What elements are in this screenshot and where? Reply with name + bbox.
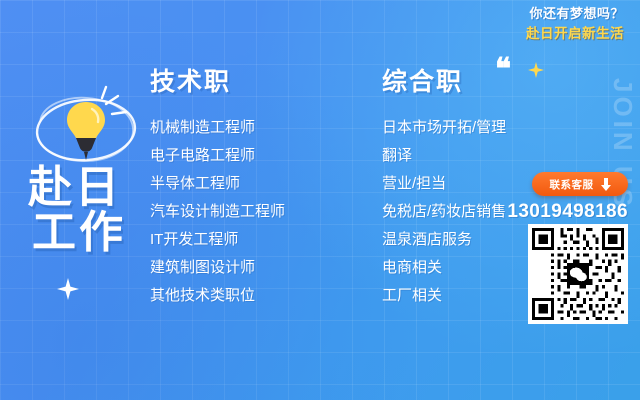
column-title: 综合职 [382, 62, 572, 98]
phone-number: 13019498186 [507, 201, 628, 223]
list-item: 半导体工程师 [150, 176, 340, 191]
wechat-qr-code[interactable] [528, 224, 628, 324]
list-item: IT开发工程师 [150, 232, 340, 247]
list-item: 汽车设计制造工程师 [150, 204, 340, 219]
list-item: 翻译 [382, 148, 572, 163]
headline-block: 你还有梦想吗？ 赴日开启新生活 [526, 6, 624, 42]
brand-title-line2: 工作 [32, 211, 126, 256]
list-item: 电子电路工程师 [150, 148, 340, 163]
contact-support-button[interactable]: 联系客服 [532, 172, 628, 196]
headline-slogan: 赴日开启新生活 [526, 26, 624, 42]
contact-support-label: 联系客服 [550, 177, 594, 192]
list-item: 建筑制图设计师 [150, 260, 340, 275]
brand-title: 赴日 工作 [28, 166, 126, 256]
job-column-technical: 技术职 机械制造工程师 电子电路工程师 半导体工程师 汽车设计制造工程师 IT开… [150, 62, 340, 316]
job-columns: 技术职 机械制造工程师 电子电路工程师 半导体工程师 汽车设计制造工程师 IT开… [150, 62, 572, 316]
brand-title-line1: 赴日 [28, 166, 126, 211]
qr-code-image [532, 228, 624, 320]
column-title: 技术职 [150, 62, 340, 98]
arrow-down-icon [601, 178, 611, 191]
job-list: 机械制造工程师 电子电路工程师 半导体工程师 汽车设计制造工程师 IT开发工程师… [150, 120, 340, 303]
lightbulb-illustration [26, 82, 146, 174]
list-item: 机械制造工程师 [150, 120, 340, 135]
star-icon-white [57, 278, 79, 300]
poster-canvas: 你还有梦想吗？ 赴日开启新生活 ❝ JOIN US 赴日 工作 [0, 0, 640, 400]
list-item: 其他技术类职位 [150, 288, 340, 303]
headline-question: 你还有梦想吗？ [526, 6, 624, 21]
list-item: 日本市场开拓/管理 [382, 120, 572, 135]
lightbulb-icon [26, 82, 146, 174]
